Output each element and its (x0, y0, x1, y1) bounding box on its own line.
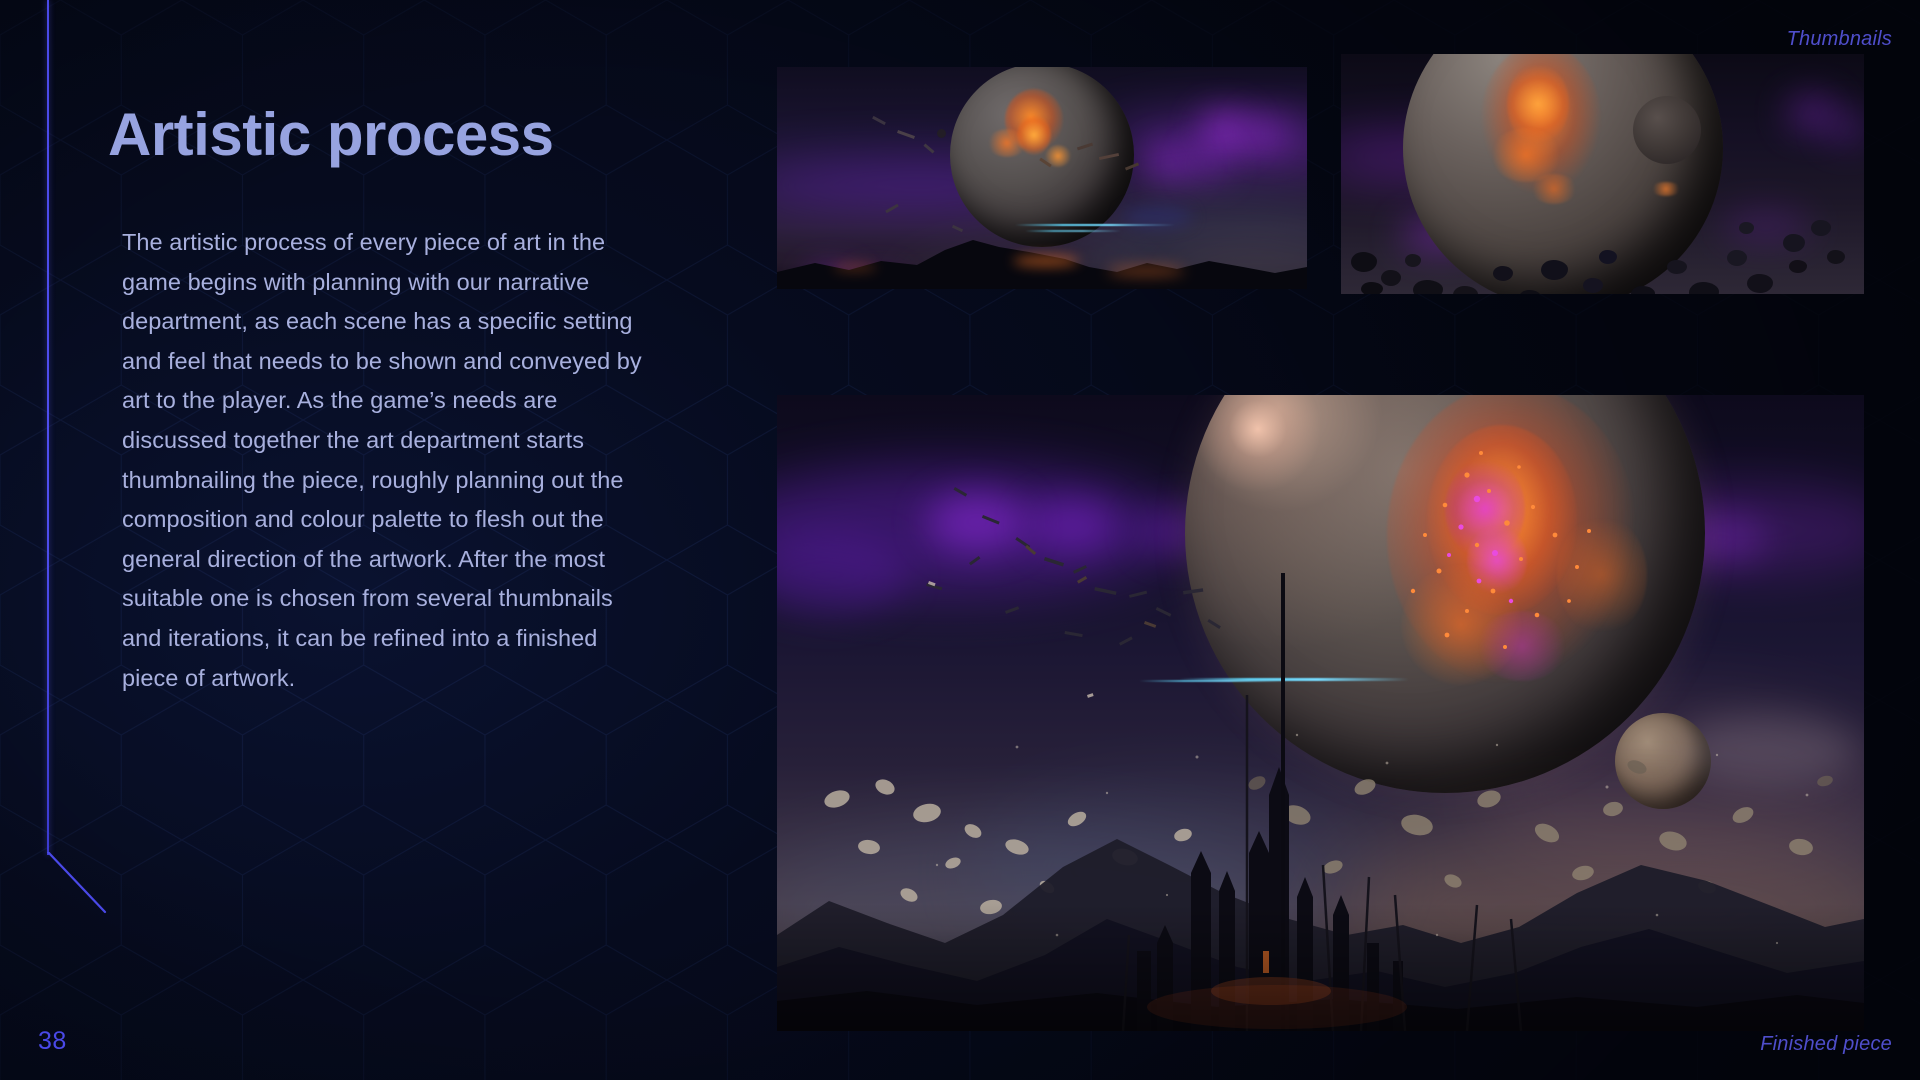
body-paragraph: The artistic process of every piece of a… (108, 223, 648, 698)
caption-thumbnails: Thumbnails (1787, 28, 1892, 51)
accent-vertical-line (47, 0, 49, 855)
artwork-thumbnail-2[interactable] (1341, 54, 1864, 294)
artwork-finished-piece[interactable] (777, 395, 1864, 1031)
moon-shape (1633, 96, 1701, 164)
accent-diagonal-line (47, 852, 117, 922)
page-title: Artistic process (108, 105, 708, 165)
artwork-thumbnail-1[interactable] (777, 67, 1307, 289)
text-column: Artistic process The artistic process of… (108, 105, 708, 698)
slide-root: Artistic process The artistic process of… (0, 0, 1920, 1080)
caption-finished-piece: Finished piece (1760, 1033, 1892, 1056)
page-number: 38 (38, 1027, 67, 1056)
